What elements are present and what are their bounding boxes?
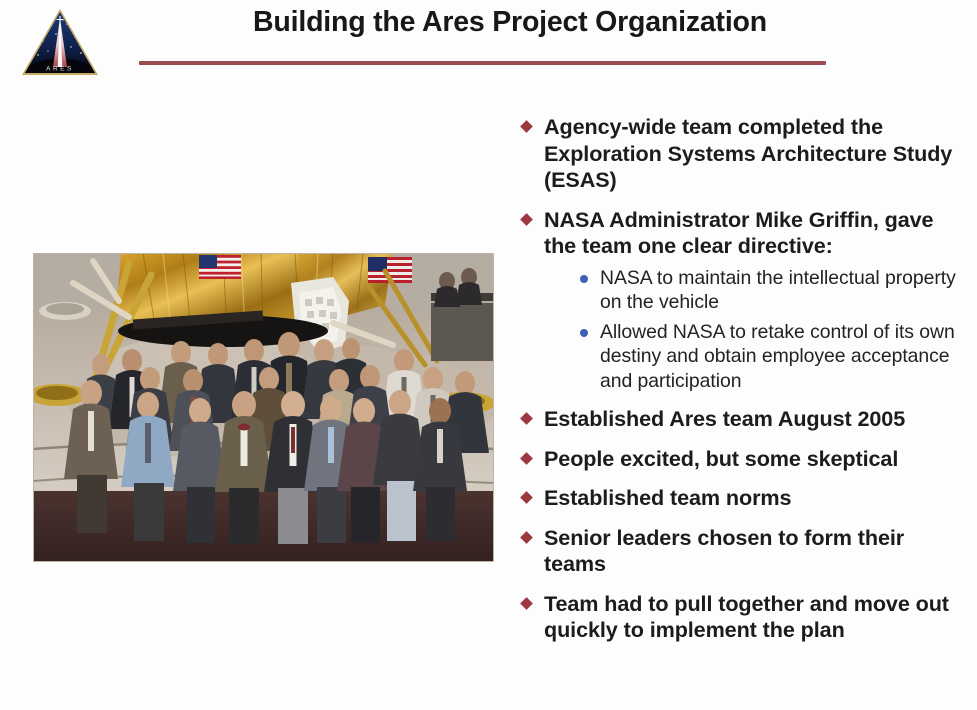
bullet-text: Agency-wide team completed the Explorati… xyxy=(544,114,952,192)
bullet-item: Agency-wide team completed the Explorati… xyxy=(518,114,970,194)
diamond-bullet-icon xyxy=(520,491,533,504)
bullet-text: NASA Administrator Mike Griffin, gave th… xyxy=(544,207,933,259)
bullet-item: NASA Administrator Mike Griffin, gave th… xyxy=(518,207,970,394)
diamond-bullet-icon xyxy=(520,597,533,610)
page-title: Building the Ares Project Organization xyxy=(130,6,890,39)
slide-header: ARES Building the Ares Project Organizat… xyxy=(0,0,977,92)
diamond-bullet-icon xyxy=(520,531,533,544)
dot-bullet-icon xyxy=(580,275,588,283)
sub-bullet-list: NASA to maintain the intellectual proper… xyxy=(544,266,970,394)
presentation-slide: ARES Building the Ares Project Organizat… xyxy=(0,0,977,710)
diamond-bullet-icon xyxy=(520,213,533,226)
bullet-item: Senior leaders chosen to form their team… xyxy=(518,525,970,578)
bullet-item: People excited, but some skeptical xyxy=(518,446,970,473)
diamond-bullet-icon xyxy=(520,452,533,465)
sub-bullet-text: Allowed NASA to retake control of its ow… xyxy=(600,321,955,392)
bullet-list: Agency-wide team completed the Explorati… xyxy=(518,114,970,657)
bullet-item: Established team norms xyxy=(518,485,970,512)
bullet-item: Team had to pull together and move out q… xyxy=(518,591,970,644)
bullet-item: Established Ares team August 2005 xyxy=(518,406,970,433)
sub-bullet-item: Allowed NASA to retake control of its ow… xyxy=(578,320,970,394)
dot-bullet-icon xyxy=(580,329,588,337)
sub-bullet-text: NASA to maintain the intellectual proper… xyxy=(600,267,956,314)
ares-logo-icon: ARES xyxy=(19,7,101,79)
diamond-bullet-icon xyxy=(520,120,533,133)
bullet-text: Established team norms xyxy=(544,485,791,510)
bullet-text: Team had to pull together and move out q… xyxy=(544,591,949,643)
sub-bullet-item: NASA to maintain the intellectual proper… xyxy=(578,266,970,315)
bullet-text: People excited, but some skeptical xyxy=(544,446,898,471)
svg-text:ARES: ARES xyxy=(46,66,74,73)
bullet-text: Established Ares team August 2005 xyxy=(544,406,905,431)
ares-team-group-photo xyxy=(33,253,494,562)
bullet-text: Senior leaders chosen to form their team… xyxy=(544,525,904,577)
title-divider-rule xyxy=(139,61,826,65)
diamond-bullet-icon xyxy=(520,412,533,425)
